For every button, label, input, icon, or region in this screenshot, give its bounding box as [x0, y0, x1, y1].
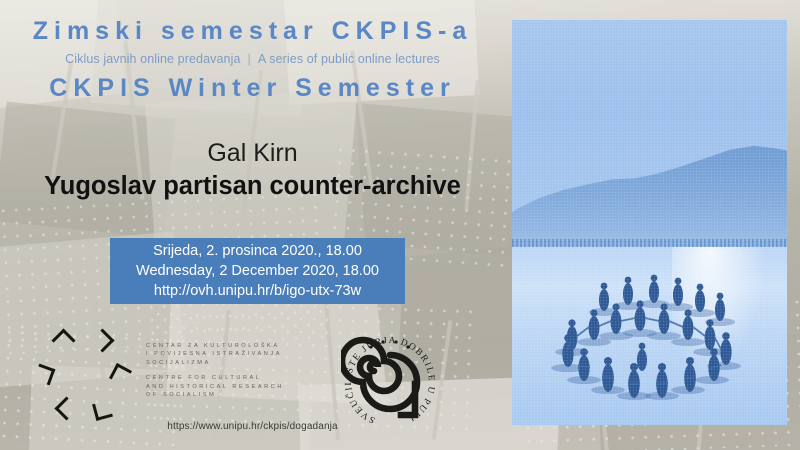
- centre-hr-line-2: I POVIJESNA ISTRAŽIVANJA: [146, 350, 284, 358]
- bracket-ring-decoration: [28, 330, 132, 430]
- centre-logo-text: CENTAR ZA KULTUROLOŠKA I POVIJESNA ISTRA…: [146, 342, 284, 399]
- header-subtitle-separator: |: [241, 52, 258, 66]
- centre-en-line-2: AND HISTORICAL RESEARCH: [146, 383, 284, 391]
- presentation-slide: Zimski semestar CKPIS-a Ciklus javnih on…: [0, 0, 800, 450]
- university-seal-logo: SVEUČILIŠTE JURJA DOBRILE U PULI: [341, 333, 439, 431]
- event-join-link[interactable]: http://ovh.unipu.hr/b/igo-utx-73w: [154, 281, 361, 301]
- centre-en-line-1: CENTRE FOR CULTURAL: [146, 374, 284, 382]
- event-date-english: Wednesday, 2 December 2020, 18.00: [136, 261, 379, 281]
- header-subtitle-croatian: Ciklus javnih online predavanja: [65, 52, 240, 66]
- event-date-croatian: Srijeda, 2. prosinca 2020., 18.00: [153, 241, 362, 261]
- lecture-title: Yugoslav partisan counter-archive: [0, 172, 505, 200]
- centre-hr-line-3: SOCIJALIZMA: [146, 359, 284, 367]
- header-subtitle-english: A series of public online lectures: [258, 52, 440, 66]
- centre-en-line-3: OF SOCIALISM: [146, 391, 284, 399]
- centre-hr-line-1: CENTAR ZA KULTUROLOŠKA: [146, 342, 284, 350]
- footer-url[interactable]: https://www.unipu.hr/ckpis/dogadanja: [0, 421, 505, 432]
- header-title-croatian: Zimski semestar CKPIS-a: [0, 0, 505, 44]
- event-info-box: Srijeda, 2. prosinca 2020., 18.00 Wednes…: [110, 238, 405, 304]
- slide-header: Zimski semestar CKPIS-a Ciklus javnih on…: [0, 0, 505, 101]
- header-title-english: CKPIS Winter Semester: [0, 66, 505, 101]
- photo-film-grain: [512, 20, 787, 425]
- spiral-icon: SVEUČILIŠTE JURJA DOBRILE U PULI: [341, 333, 439, 431]
- speaker-name: Gal Kirn: [0, 141, 505, 166]
- header-subtitle: Ciklus javnih online predavanja|A series…: [0, 44, 505, 66]
- winter-landscape-photo: [512, 20, 787, 425]
